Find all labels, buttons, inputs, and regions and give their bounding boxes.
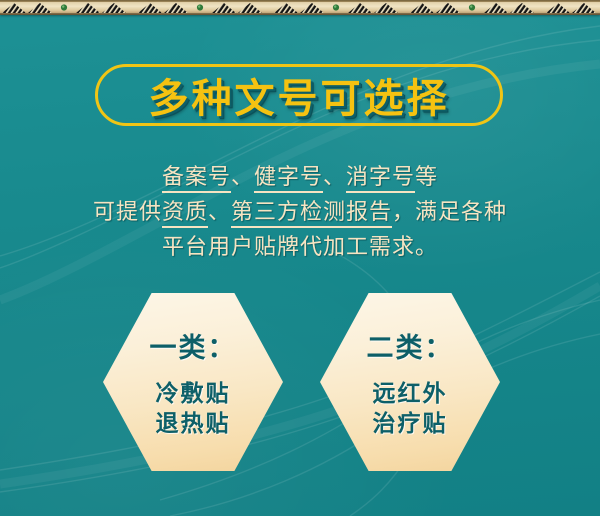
top-border-bottom-edge — [0, 13, 600, 15]
body-line-2-run-2: 资质 — [162, 200, 208, 228]
decorative-top-border — [0, 0, 600, 15]
category-card-2-line-1: 远红外 — [373, 379, 448, 409]
body-line-2-run-4: 第三方检测报告 — [231, 200, 392, 228]
body-line-1-run-4: 、 — [323, 165, 346, 190]
body-line-2-run-3: 、 — [208, 200, 231, 225]
body-line-1-run-5: 消字号 — [346, 165, 415, 193]
category-card-1-heading: 一类： — [150, 326, 237, 365]
page-title: 多种文号可选择 — [95, 64, 503, 126]
body-line-1-run-6: 等 — [415, 165, 438, 190]
body-line-3-run-1: 平台用户贴牌代加工需求。 — [162, 235, 438, 260]
category-card-2-line-2: 治疗贴 — [373, 409, 448, 439]
body-line-3: 平台用户贴牌代加工需求。 — [0, 230, 600, 265]
body-line-2-run-1: 可提供 — [93, 200, 162, 225]
top-border-top-edge — [0, 0, 600, 2]
body-line-2-run-5: ，满足各种 — [392, 200, 507, 225]
body-line-2: 可提供资质、第三方检测报告，满足各种 — [0, 195, 600, 230]
body-line-1: 备案号、健字号、消字号等 — [0, 160, 600, 195]
category-card-2-heading: 二类： — [367, 326, 454, 365]
body-line-1-run-1: 备案号 — [162, 165, 231, 193]
body-paragraph: 备案号、健字号、消字号等 可提供资质、第三方检测报告，满足各种 平台用户贴牌代加… — [0, 160, 600, 265]
category-card-1-line-2: 退热贴 — [156, 409, 231, 439]
category-card-1-line-1: 冷敷贴 — [156, 379, 231, 409]
poster-root: 多种文号可选择 备案号、健字号、消字号等 可提供资质、第三方检测报告，满足各种 … — [0, 0, 600, 516]
body-line-1-run-3: 健字号 — [254, 165, 323, 193]
body-line-1-run-2: 、 — [231, 165, 254, 190]
